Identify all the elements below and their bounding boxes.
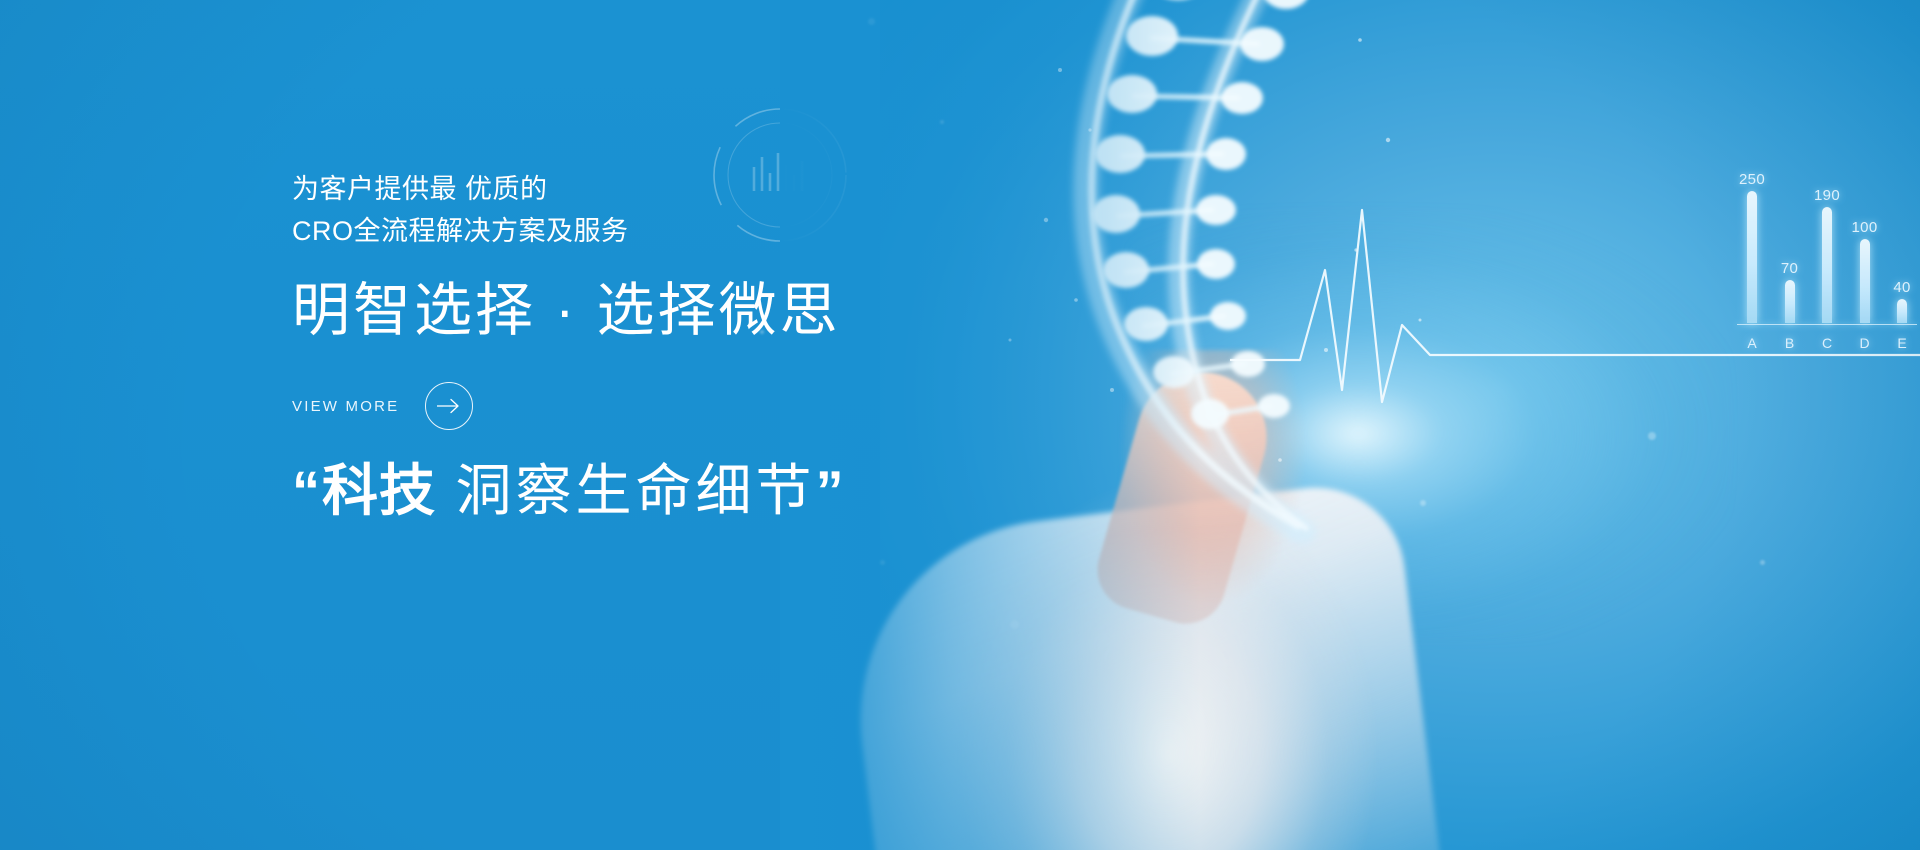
bar-column: 40: [1891, 171, 1913, 323]
hero-content: 为客户提供最 优质的 CRO全流程解决方案及服务 明智选择 · 选择微思 VIE…: [292, 0, 1012, 850]
bar-column: 250: [1741, 171, 1763, 323]
category-label: B: [1779, 335, 1801, 351]
bar-a: [1747, 191, 1757, 323]
hero-subtitle: 为客户提供最 优质的 CRO全流程解决方案及服务: [292, 168, 629, 252]
bar-b: [1785, 280, 1795, 323]
quote-strong-text: 科技: [322, 459, 436, 522]
category-label: D: [1854, 335, 1876, 351]
category-label: A: [1741, 335, 1763, 351]
bar-column: 70: [1779, 171, 1801, 323]
bar-c: [1822, 207, 1832, 323]
bar-d: [1860, 239, 1870, 323]
hero-banner: 250 70 190 100 40: [0, 0, 1920, 850]
bar-chart-area: 250 70 190 100 40: [1735, 150, 1920, 355]
hero-headline: 明智选择 · 选择微思: [292, 278, 841, 344]
bar-value: 70: [1781, 260, 1798, 277]
bar-value: 100: [1852, 219, 1878, 236]
view-more-label: VIEW MORE: [292, 398, 399, 415]
bar-value: 250: [1739, 171, 1765, 188]
bar-chart-bars: 250 70 190 100 40: [1741, 171, 1913, 323]
hero-quote: “科技 洞察生命细节”: [292, 455, 846, 527]
bar-chart-overlay: 250 70 190 100 40: [1735, 150, 1920, 355]
bar-chart-category-labels: A B C D E: [1741, 335, 1913, 351]
bar-value: 190: [1814, 187, 1840, 204]
bar-value: 40: [1893, 279, 1910, 296]
bar-column: 100: [1854, 171, 1876, 323]
view-more-button[interactable]: VIEW MORE: [292, 382, 473, 430]
bar-chart-axis: [1737, 324, 1917, 325]
quote-light-text: 洞察生命细节: [436, 459, 816, 522]
bar-e: [1897, 299, 1907, 323]
quote-close-mark: ”: [816, 459, 846, 522]
bar-column: 190: [1816, 171, 1838, 323]
category-label: C: [1816, 335, 1838, 351]
quote-open-mark: “: [292, 459, 322, 522]
arrow-right-icon[interactable]: [425, 382, 473, 430]
category-label: E: [1891, 335, 1913, 351]
